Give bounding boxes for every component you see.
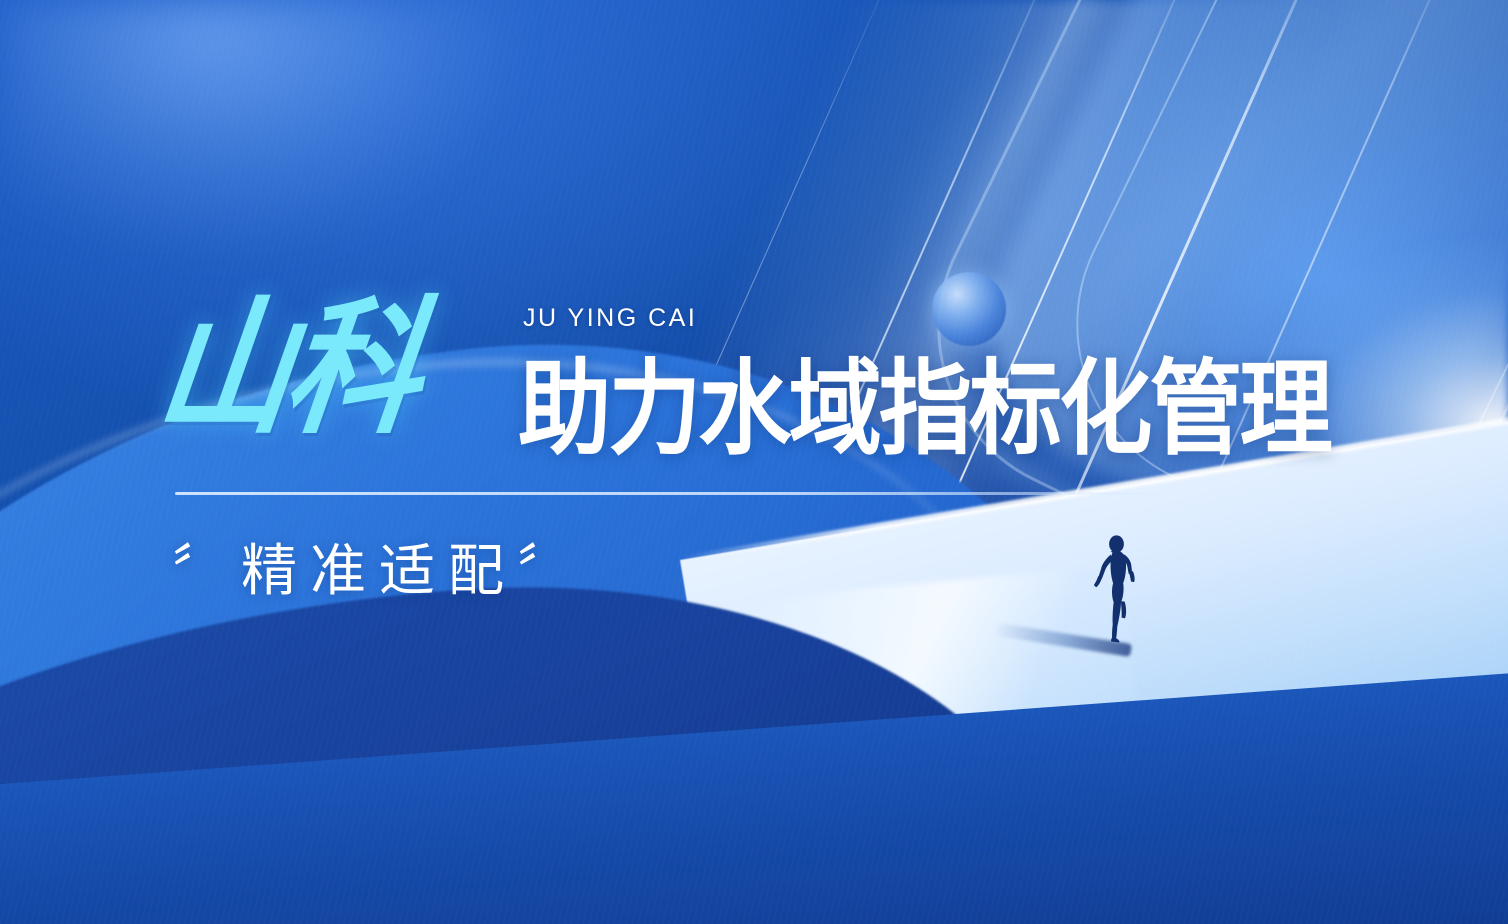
divider-line [175,492,1157,495]
brand-pinyin: JU YING CAI [523,304,697,333]
promo-banner: 山科 JU YING CAI 助力水域指标化管理 〞精准适配〞 [0,0,1508,924]
banner-content: 山科 JU YING CAI 助力水域指标化管理 〞精准适配〞 [0,0,1508,924]
headline-text: 助力水域指标化管理 [518,358,1330,462]
brand-logo-text: 山科 [150,296,424,443]
subtitle-text: 〞精准适配〞 [172,542,586,601]
